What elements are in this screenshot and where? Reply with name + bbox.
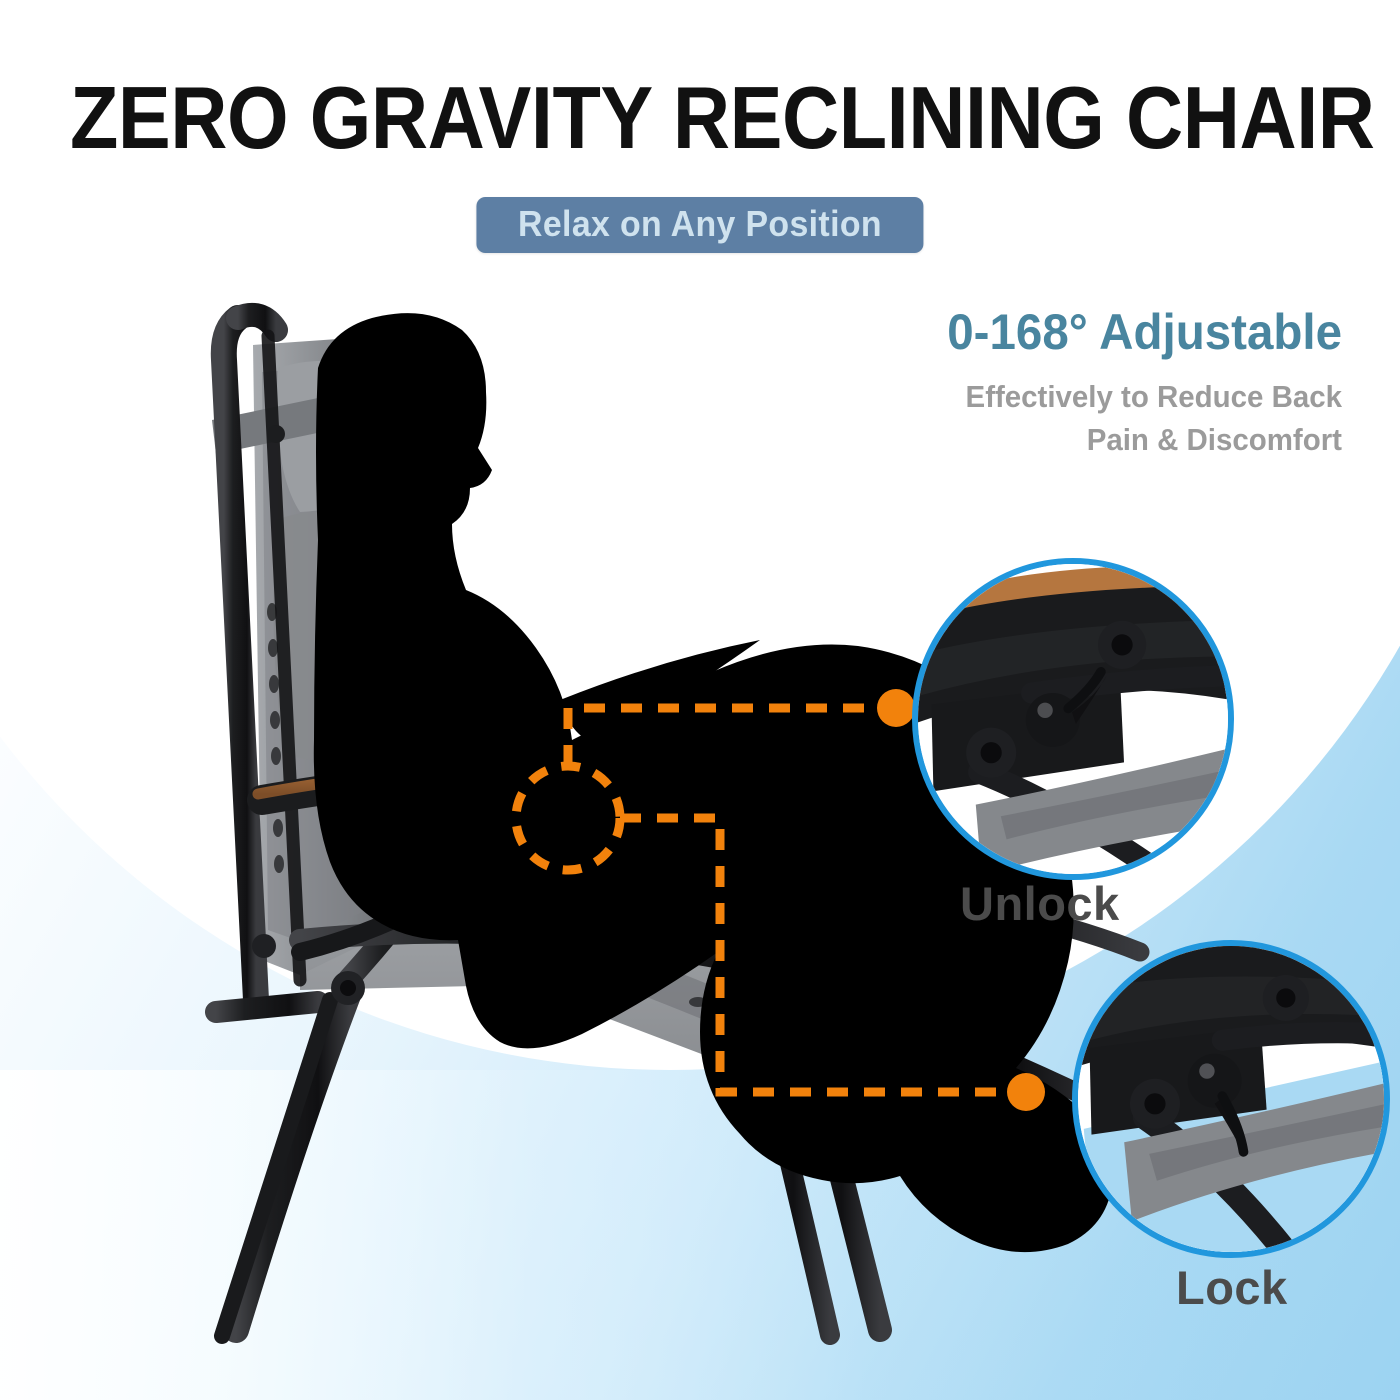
- callout-label-lock: Lock: [1176, 1264, 1288, 1311]
- infographic-canvas: ZERO GRAVITY RECLINING CHAIR Relax on An…: [0, 0, 1400, 1400]
- callout-lock-photo: [1078, 946, 1384, 1252]
- callout-label-unlock: Unlock: [960, 880, 1120, 927]
- callout-circle-lock: [1072, 940, 1390, 1258]
- callout-unlock-photo: [918, 564, 1228, 874]
- callout-label-text-unlock: Unlock: [960, 877, 1120, 930]
- callout-label-text-lock: Lock: [1176, 1261, 1288, 1314]
- callout-circle-unlock: [912, 558, 1234, 880]
